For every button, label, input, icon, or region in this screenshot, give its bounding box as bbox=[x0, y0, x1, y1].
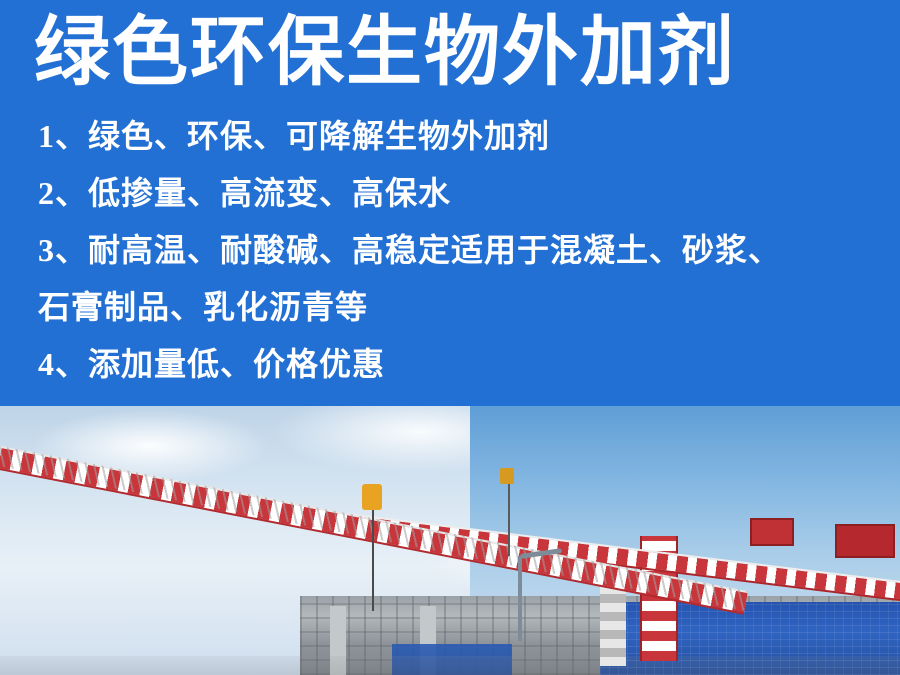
page-title: 绿色环保生物外加剂 bbox=[34, 8, 874, 96]
crane-counterweight bbox=[835, 524, 895, 558]
feature-list: 1、绿色、环保、可降解生物外加剂 2、低掺量、高流变、高保水 3、耐高温、耐酸碱… bbox=[38, 108, 868, 393]
product-poster: 绿色环保生物外加剂 1、绿色、环保、可降解生物外加剂 2、低掺量、高流变、高保水… bbox=[0, 0, 900, 675]
ground-line bbox=[0, 656, 900, 675]
crane-trolley bbox=[750, 518, 794, 546]
crane-hoist-line bbox=[372, 501, 374, 611]
photo-band: 生物环保|一剂多效 样品包装 实验溶解效果 实验效果 bbox=[0, 406, 900, 675]
feature-item-2: 2、低掺量、高流变、高保水 bbox=[38, 165, 868, 222]
feature-item-1: 1、绿色、环保、可降解生物外加剂 bbox=[38, 108, 868, 165]
feature-item-3-continued: 石膏制品、乳化沥青等 bbox=[38, 279, 868, 336]
blue-info-panel: 绿色环保生物外加剂 1、绿色、环保、可降解生物外加剂 2、低掺量、高流变、高保水… bbox=[0, 0, 900, 406]
crane-hook bbox=[362, 484, 382, 510]
feature-item-4: 4、添加量低、价格优惠 bbox=[38, 336, 868, 393]
feature-item-3: 3、耐高温、耐酸碱、高稳定适用于混凝土、砂浆、 bbox=[38, 222, 868, 279]
crane-hook-2 bbox=[500, 468, 514, 484]
street-lamp-pole bbox=[518, 556, 522, 641]
crane-hoist-line-2 bbox=[508, 476, 510, 556]
